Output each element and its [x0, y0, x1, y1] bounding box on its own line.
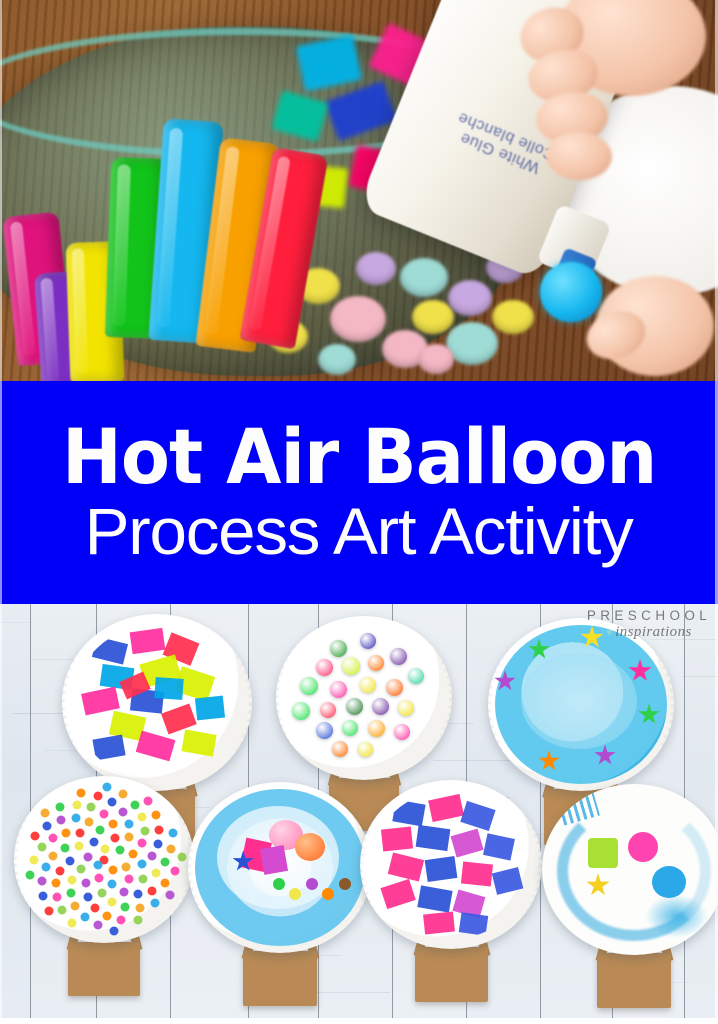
paint-dot [168, 829, 177, 838]
paint-dot [94, 873, 103, 882]
tissue-square [136, 731, 176, 762]
left-edge [0, 0, 2, 1024]
paint-dot [153, 839, 162, 848]
paint-dot [139, 874, 148, 883]
paint-dot [68, 918, 77, 927]
small-bead [339, 878, 351, 890]
tissue-square [417, 885, 452, 912]
pom-pom [358, 742, 373, 757]
paint-dot [118, 807, 127, 816]
paint-dot [72, 800, 81, 809]
pom-pom [300, 677, 318, 695]
tissue-square [381, 827, 413, 852]
paint-dot [102, 911, 111, 920]
paint-dot [71, 814, 80, 823]
paint-dot [155, 825, 164, 834]
balloon-dot-marker-confetti [14, 776, 194, 1010]
paint-dot [108, 798, 117, 807]
tissue-square [195, 696, 225, 721]
basket [415, 947, 488, 1002]
tissue-square [423, 911, 455, 934]
balloon-white-blue-accents [542, 784, 718, 1018]
paint-dot [38, 842, 47, 851]
photo-finished-balloons [0, 604, 718, 1018]
paint-dot [58, 906, 67, 915]
paint-dot [85, 817, 94, 826]
tissue-square [425, 856, 458, 882]
paint-dot [129, 849, 138, 858]
small-bead [306, 878, 318, 890]
basket [68, 942, 140, 996]
tissue-square [92, 637, 128, 665]
paint-dot [52, 892, 61, 901]
blue-pompom [540, 262, 602, 322]
pom-pom [372, 698, 389, 715]
pom-pom [368, 655, 384, 671]
paint-dot [42, 821, 51, 830]
craft-button [448, 280, 492, 316]
tissue-collage [371, 790, 531, 939]
paper-plate [62, 614, 252, 791]
paint-dot [25, 871, 34, 880]
tissue-square [388, 853, 424, 882]
paint-dot [133, 916, 142, 925]
tissue-square [381, 879, 416, 909]
tissue-square [181, 729, 216, 757]
paint-dot [56, 802, 65, 811]
tissue-square [392, 799, 426, 825]
paint-dot [147, 851, 156, 860]
paint-dot [93, 860, 102, 869]
tissue-square [483, 834, 515, 861]
paint-dot [77, 864, 86, 873]
plate-decoration [62, 614, 252, 791]
paint-dot [44, 907, 53, 916]
pom-pom [332, 741, 348, 757]
blue-paint-splotch [645, 894, 708, 938]
pinterest-pin-graphic: White Glue Colle blanche Hot Air Balloon… [0, 0, 718, 1024]
paint-dot [143, 797, 152, 806]
paint-dot [152, 811, 161, 820]
paint-dot [38, 891, 47, 900]
bottom-margin [0, 1018, 718, 1024]
pin-title-line2: Process Art Activity [85, 498, 633, 564]
paint-dot [60, 844, 69, 853]
orange-pompom [295, 833, 325, 861]
paint-dot [51, 878, 60, 887]
balloon-blue-swirl-pompom [188, 782, 372, 1018]
paint-dot [115, 846, 124, 855]
paint-dot [98, 889, 107, 898]
tissue-square [459, 912, 488, 935]
paint-dot [68, 876, 77, 885]
paint-dot [71, 901, 80, 910]
paint-dot [161, 858, 170, 867]
tissue-square [450, 828, 483, 857]
pom-pom [394, 724, 410, 740]
paint-dot [108, 898, 117, 907]
pom-pom [360, 677, 376, 693]
paint-dot [121, 903, 130, 912]
paint-dot [137, 860, 146, 869]
balloon-tissue-pink-blue [360, 780, 542, 1017]
pom-pom [342, 720, 358, 736]
tissue-square [154, 677, 183, 700]
paint-dot [151, 868, 160, 877]
paint-dot [30, 832, 39, 841]
pom-pom [320, 702, 336, 718]
pom-pom [386, 679, 403, 696]
tissue-square [428, 794, 464, 822]
tissue-square [461, 861, 493, 886]
paint-dot [138, 839, 147, 848]
paper-plate [14, 776, 194, 943]
tissue-square [416, 824, 451, 850]
tissue-square [461, 801, 496, 831]
paint-dot [121, 863, 130, 872]
paint-dot [82, 879, 91, 888]
paint-dot [111, 833, 120, 842]
paint-dot [140, 826, 149, 835]
plate-decoration [188, 782, 372, 953]
paint-dot [110, 926, 119, 935]
paint-dot [29, 855, 38, 864]
craft-button [400, 258, 448, 297]
paint-dot [108, 866, 117, 875]
pom-pom [316, 722, 333, 739]
paint-dot [37, 876, 46, 885]
pom-pom [368, 720, 385, 737]
pom-pom [408, 668, 424, 684]
green-foam-square [588, 838, 618, 868]
paint-dot [100, 809, 109, 818]
paint-dot [124, 819, 133, 828]
paint-dot [177, 852, 186, 861]
paper-plate [488, 618, 674, 791]
pom-pom [342, 657, 360, 675]
paint-dot [62, 828, 71, 837]
pom-pom [390, 648, 407, 665]
paint-dot [170, 867, 179, 876]
pom-pom [316, 659, 333, 676]
paint-dot [138, 813, 147, 822]
paint-dot [167, 844, 176, 853]
paint-dot [49, 851, 58, 860]
plate-decoration [488, 618, 674, 791]
paper-plate [360, 780, 542, 949]
pom-pom [330, 681, 347, 698]
plate-decoration [276, 616, 452, 780]
wood-grain [682, 676, 718, 677]
paint-dot [147, 886, 156, 895]
paint-dot [66, 889, 75, 898]
small-bead [273, 878, 285, 890]
paint-dot [57, 815, 66, 824]
paint-dot [49, 833, 58, 842]
plate-decoration [360, 780, 542, 949]
paint-dot [124, 832, 133, 841]
tissue-square [130, 628, 166, 655]
pom-pom [292, 702, 310, 720]
paint-dot [93, 921, 102, 930]
paint-dot [108, 819, 117, 828]
paint-dot [83, 892, 92, 901]
pin-title-line1: Hot Air Balloon [62, 421, 656, 494]
tissue-square [92, 734, 125, 760]
paint-dot [108, 879, 117, 888]
paint-dot [120, 888, 129, 897]
paint-dot [89, 837, 98, 846]
basket [597, 953, 671, 1008]
blue-pompom [652, 866, 686, 898]
craft-button [318, 344, 356, 375]
pom-pom [398, 700, 414, 716]
paint-dot [93, 791, 102, 800]
paint-dot [125, 875, 134, 884]
paint-dot [165, 890, 174, 899]
paper-plate [542, 784, 718, 955]
paint-dot [103, 782, 112, 791]
paint-dot [90, 903, 99, 912]
paint-dot [101, 844, 110, 853]
plate-decoration [542, 784, 718, 955]
craft-button [356, 252, 396, 285]
paper-plate [276, 616, 452, 780]
paint-dot [87, 803, 96, 812]
tissue-square [491, 867, 522, 894]
photo-art-supplies: White Glue Colle blanche [0, 0, 718, 381]
craft-button [330, 296, 386, 342]
pom-pom [330, 640, 347, 657]
paint-dot [133, 890, 142, 899]
title-banner: Hot Air Balloon Process Art Activity [0, 381, 718, 604]
paint-dot [151, 899, 160, 908]
plate-decoration [14, 776, 194, 943]
paint-dot [130, 800, 139, 809]
paint-dot [75, 842, 84, 851]
paint-dot [56, 866, 65, 875]
paper-plate [188, 782, 372, 953]
wood-grain [0, 622, 30, 623]
purple-tissue-square [260, 845, 288, 875]
tissue-collage [73, 625, 240, 780]
paint-dot [41, 862, 50, 871]
craft-button [418, 344, 454, 374]
paint-dot [95, 826, 104, 835]
paint-dot [65, 857, 74, 866]
paint-dot [136, 903, 145, 912]
paint-dot [76, 829, 85, 838]
pom-pom [346, 698, 363, 715]
basket [243, 951, 317, 1006]
paint-dot [40, 809, 49, 818]
pom-pom [360, 633, 376, 649]
paint-dot [83, 853, 92, 862]
paint-dot [77, 788, 86, 797]
paint-dot [80, 912, 89, 921]
paint-dot [160, 879, 169, 888]
paint-dot [118, 790, 127, 799]
paint-dot [117, 915, 126, 924]
paint-highlight [521, 653, 636, 750]
